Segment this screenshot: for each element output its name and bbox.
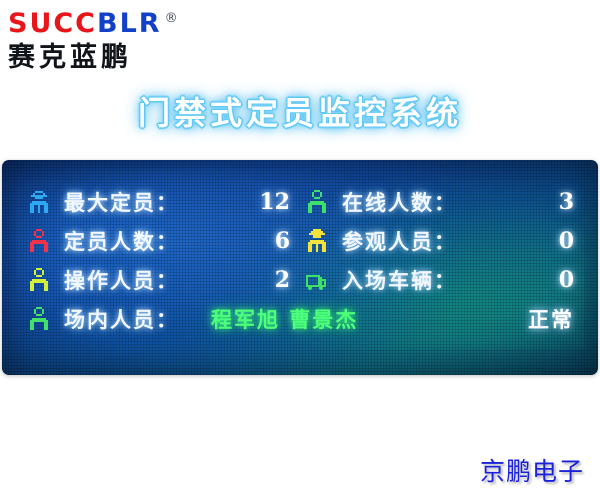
- person-icon: [26, 265, 52, 295]
- person-icon: [26, 304, 52, 334]
- led-row: 最大定员： 12 在线人数: [26, 182, 574, 221]
- led-row: 定员人数： 6: [26, 221, 574, 260]
- led-label: 操作人员：: [64, 265, 179, 295]
- led-field-onsite-personnel: 场内人员： 程军旭 曹景杰 正常: [26, 304, 574, 334]
- logo-wordmark: SUCCBLR®: [8, 4, 238, 39]
- led-value: 12: [259, 189, 304, 215]
- led-label: 最大定员：: [64, 187, 179, 217]
- led-value: 0: [559, 267, 574, 293]
- registered-trademark-icon: ®: [165, 11, 178, 26]
- led-field-assigned-count: 定员人数： 6: [26, 221, 304, 260]
- led-label: 在线人数：: [342, 187, 457, 217]
- led-rows: 最大定员： 12 在线人数: [26, 182, 574, 338]
- logo-chinese-name: 赛克蓝鹏: [8, 41, 238, 75]
- led-label: 入场车辆：: [342, 265, 457, 295]
- company-logo: SUCCBLR® 赛克蓝鹏: [8, 4, 238, 76]
- led-value: 3: [559, 189, 574, 215]
- status-badge: 正常: [528, 304, 574, 334]
- led-field-max-capacity: 最大定员： 12: [26, 182, 304, 221]
- person-icon: [304, 187, 330, 217]
- led-display-panel: 最大定员： 12 在线人数: [2, 160, 598, 375]
- logo-wordmark-red: SUCC: [8, 8, 97, 39]
- led-value: 6: [275, 228, 304, 254]
- led-field-online-count: 在线人数： 3: [304, 182, 574, 221]
- page-title: 门禁式定员监控系统: [0, 88, 600, 134]
- person-helmet-icon: [304, 226, 330, 256]
- person-icon: [26, 226, 52, 256]
- led-field-operator-count: 操作人员： 2: [26, 260, 304, 299]
- onsite-personnel-names: 程军旭 曹景杰: [211, 304, 358, 334]
- logo-wordmark-blue: BLR: [97, 8, 162, 39]
- led-label: 参观人员：: [342, 226, 457, 256]
- led-label: 定员人数：: [64, 226, 179, 256]
- led-row: 场内人员： 程军旭 曹景杰 正常: [26, 299, 574, 338]
- led-field-visitor-count: 参观人员： 0: [304, 221, 574, 260]
- led-field-vehicle-count: 入场车辆： 0: [304, 260, 574, 299]
- led-value: 2: [275, 267, 304, 293]
- led-row: 操作人员： 2 入场车辆：: [26, 260, 574, 299]
- person-cap-icon: [26, 187, 52, 217]
- led-label: 场内人员：: [64, 304, 179, 334]
- footer-company-name: 京鹏电子: [480, 452, 584, 488]
- truck-icon: [304, 265, 330, 295]
- led-value: 0: [559, 228, 574, 254]
